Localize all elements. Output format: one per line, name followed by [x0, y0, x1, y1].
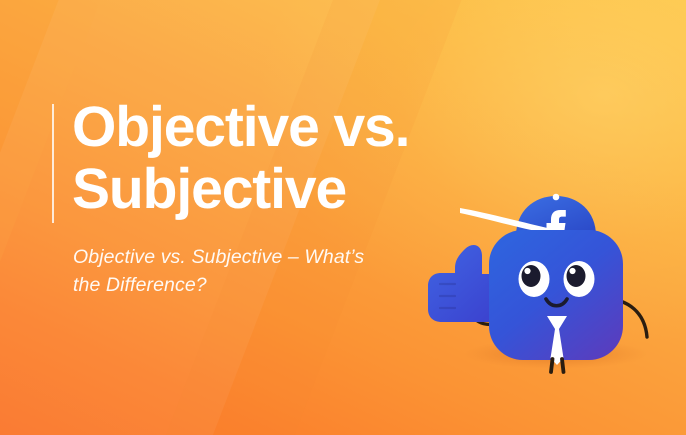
- mascot-pupil-right: [567, 265, 586, 287]
- page-subtitle-line-1: Objective vs. Subjective – What’s: [73, 243, 403, 271]
- page-title-line-1: Objective vs.: [72, 96, 542, 158]
- mascot-eye-highlight-right: [569, 268, 575, 274]
- mascot-pupil-left: [522, 265, 541, 287]
- page-subtitle-line-2: the Difference?: [73, 271, 403, 299]
- cap-button: [553, 194, 560, 201]
- page-subtitle: Objective vs. Subjective – What’s the Di…: [73, 243, 403, 299]
- mascot-eye-highlight-left: [524, 268, 530, 274]
- mascot-illustration: [404, 186, 674, 401]
- headline-accent-rule: [52, 104, 54, 223]
- promo-banner: Objective vs. Subjective Objective vs. S…: [0, 0, 686, 435]
